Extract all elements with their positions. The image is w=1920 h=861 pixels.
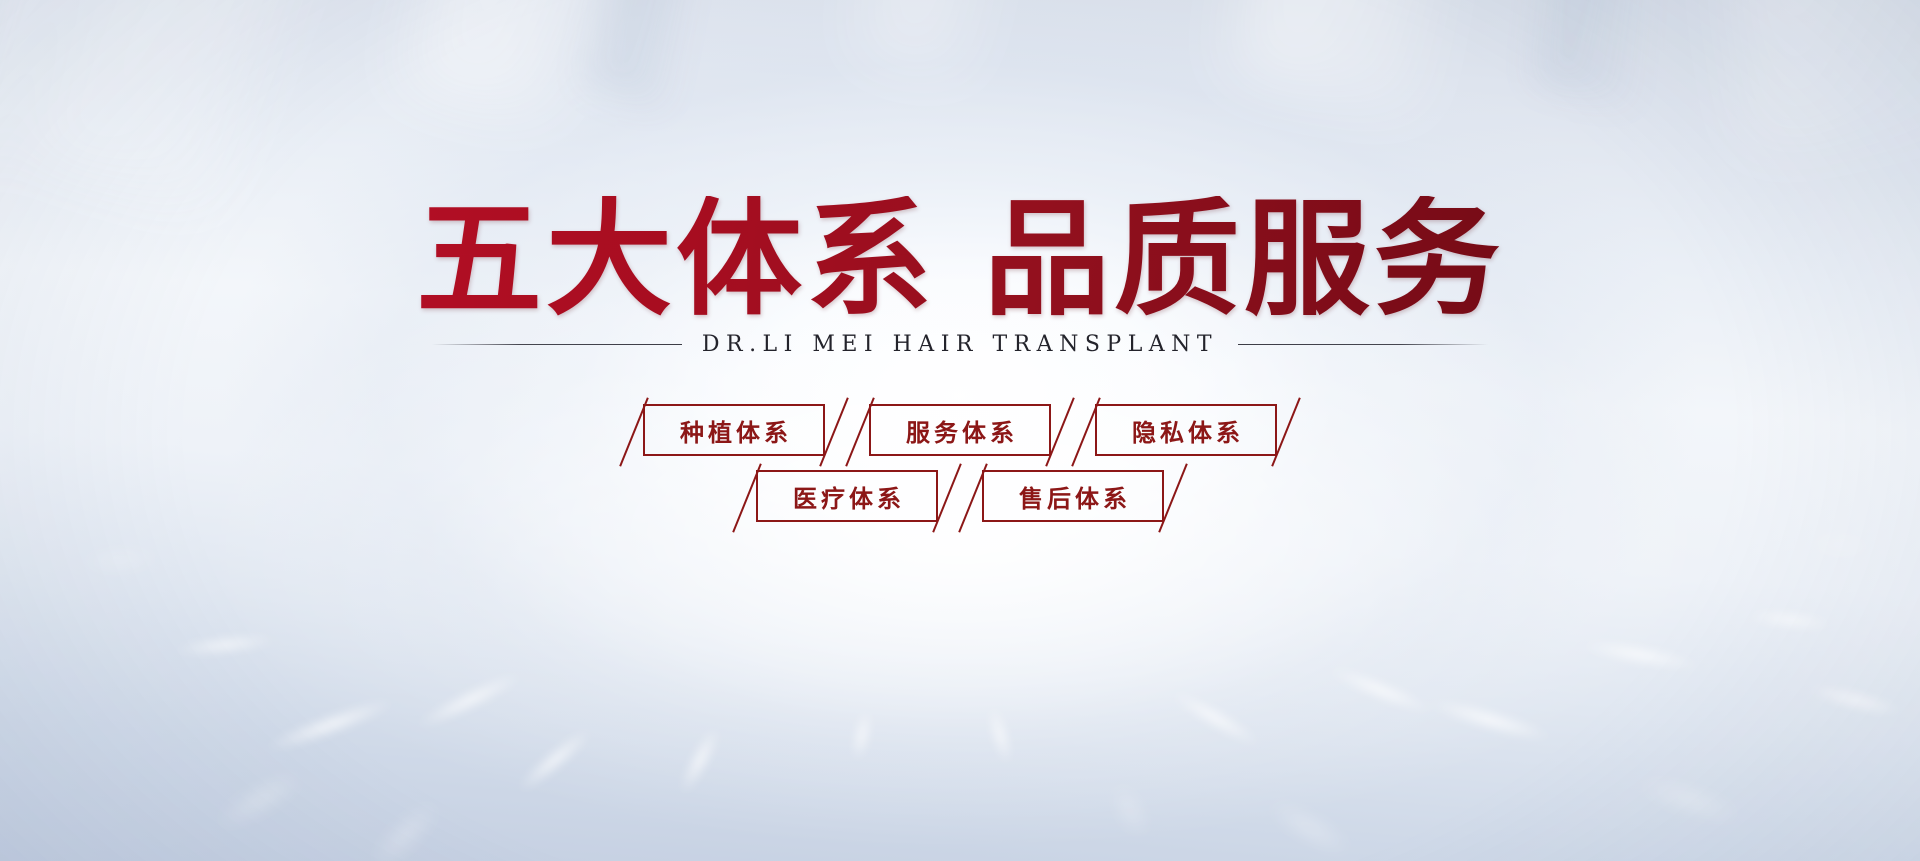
badge-label: 种植体系	[680, 413, 792, 448]
badge-label: 服务体系	[906, 413, 1018, 448]
subtitle-row: DR.LI MEI HAIR TRANSPLANT	[0, 332, 1920, 357]
slash-right-icon	[1158, 463, 1188, 532]
slash-right-icon	[819, 397, 849, 466]
slash-left-icon	[1071, 397, 1101, 466]
slash-left-icon	[958, 463, 988, 532]
divider-line-right	[1238, 344, 1488, 345]
banner-content: 五大体系 品质服务 DR.LI MEI HAIR TRANSPLANT 种植体系…	[0, 0, 1920, 861]
badge-service-system[interactable]: 服务体系	[869, 404, 1051, 456]
badge-privacy-system[interactable]: 隐私体系	[1095, 404, 1277, 456]
slash-right-icon	[1045, 397, 1075, 466]
slash-left-icon	[732, 463, 762, 532]
subtitle-text: DR.LI MEI HAIR TRANSPLANT	[702, 332, 1218, 357]
badge-medical-system[interactable]: 医疗体系	[756, 470, 938, 522]
slash-left-icon	[619, 397, 649, 466]
badge-row-1: 种植体系 服务体系 隐私体系	[643, 404, 1277, 456]
badge-planting-system[interactable]: 种植体系	[643, 404, 825, 456]
slash-left-icon	[845, 397, 875, 466]
slash-right-icon	[1271, 397, 1301, 466]
page-title: 五大体系 品质服务	[0, 196, 1920, 322]
badge-row-2: 医疗体系 售后体系	[756, 470, 1164, 522]
badge-label: 隐私体系	[1132, 413, 1244, 448]
badge-group: 种植体系 服务体系 隐私体系 医疗体系	[0, 404, 1920, 522]
slash-right-icon	[932, 463, 962, 532]
badge-label: 售后体系	[1019, 479, 1131, 514]
badge-aftersales-system[interactable]: 售后体系	[982, 470, 1164, 522]
divider-line-left	[432, 344, 682, 345]
badge-label: 医疗体系	[793, 479, 905, 514]
banner-stage: 五大体系 品质服务 DR.LI MEI HAIR TRANSPLANT 种植体系…	[0, 0, 1920, 861]
